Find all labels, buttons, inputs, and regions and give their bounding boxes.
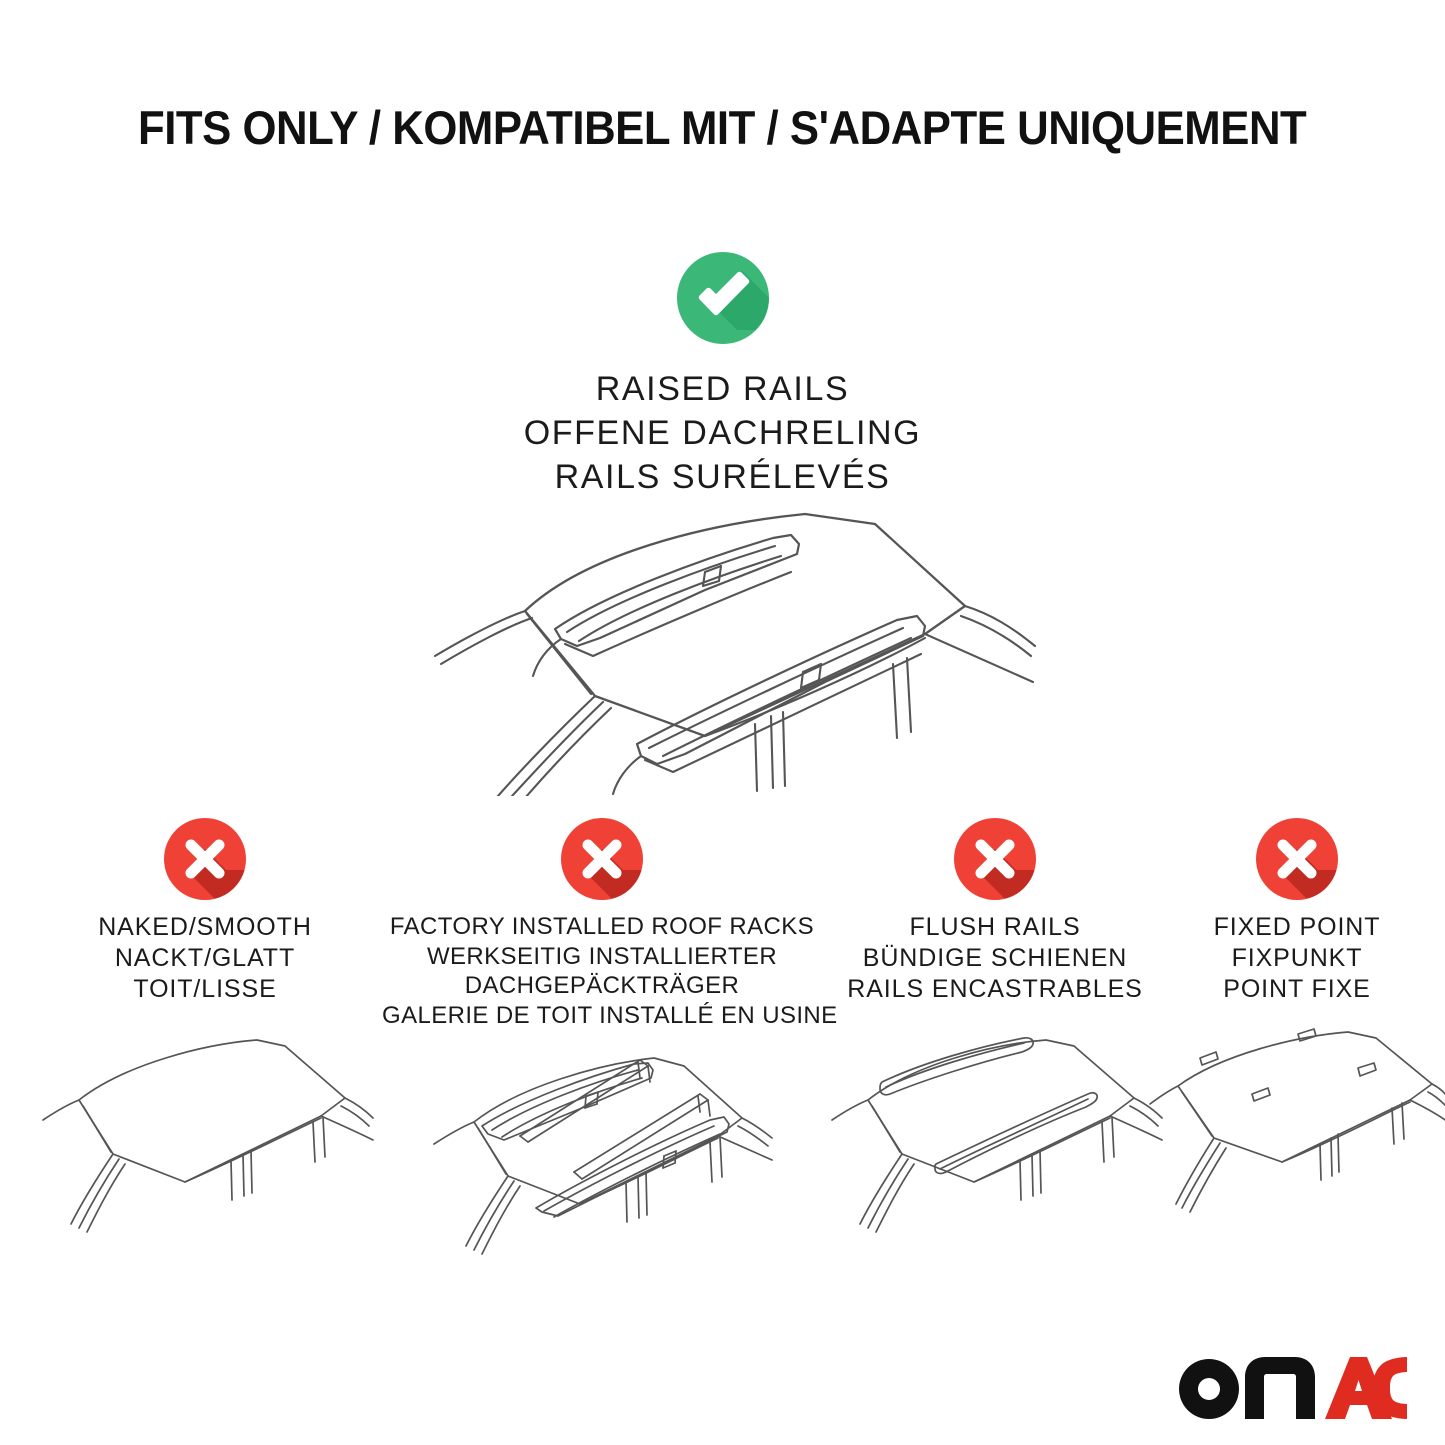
label-fr: RAILS ENCASTRABLES bbox=[820, 974, 1170, 1005]
compatible-label-en: RAISED RAILS bbox=[0, 367, 1445, 411]
x-circle-icon bbox=[164, 818, 246, 900]
x-circle-icon bbox=[1256, 818, 1338, 900]
page-header: FITS ONLY / KOMPATIBEL MIT / S'ADAPTE UN… bbox=[0, 100, 1445, 155]
page-title: FITS ONLY / KOMPATIBEL MIT / S'ADAPTE UN… bbox=[138, 100, 1306, 155]
check-circle-icon bbox=[677, 252, 769, 344]
x-circle-icon bbox=[954, 818, 1036, 900]
compatible-label-de: OFFENE DACHRELING bbox=[0, 411, 1445, 455]
car-roof-naked-smooth-illustration bbox=[22, 1020, 388, 1250]
incompatible-labels-naked-smooth: NAKED/SMOOTH NACKT/GLATT TOIT/LISSE bbox=[22, 912, 388, 1004]
incompatible-section: NAKED/SMOOTH NACKT/GLATT TOIT/LISSE bbox=[0, 818, 1445, 1288]
label-de-2: DACHGEPÄCKTRÄGER bbox=[382, 971, 822, 1001]
incompatible-labels-fixed-point: FIXED POINT FIXPUNKT POINT FIXE bbox=[1168, 912, 1426, 1004]
car-roof-fixed-point-illustration bbox=[1148, 1020, 1426, 1250]
incompatible-item-factory-racks: FACTORY INSTALLED ROOF RACKS WERKSEITIG … bbox=[382, 818, 822, 1268]
label-en: FLUSH RAILS bbox=[820, 912, 1170, 943]
car-roof-factory-racks-illustration bbox=[382, 1038, 822, 1268]
label-en: FIXED POINT bbox=[1168, 912, 1426, 943]
incompatible-item-flush-rails: FLUSH RAILS BÜNDIGE SCHIENEN RAILS ENCAS… bbox=[820, 818, 1170, 1250]
label-de: NACKT/GLATT bbox=[22, 943, 388, 974]
label-fr: POINT FIXE bbox=[1168, 974, 1426, 1005]
label-fr: GALERIE DE TOIT INSTALLÉ EN USINE bbox=[382, 1001, 822, 1031]
label-en: FACTORY INSTALLED ROOF RACKS bbox=[382, 912, 822, 942]
x-circle-icon bbox=[561, 818, 643, 900]
car-roof-raised-rails-illustration bbox=[405, 486, 1045, 796]
label-de: BÜNDIGE SCHIENEN bbox=[820, 943, 1170, 974]
compatible-section: RAISED RAILS OFFENE DACHRELING RAILS SUR… bbox=[0, 252, 1445, 500]
label-fr: TOIT/LISSE bbox=[22, 974, 388, 1005]
incompatible-item-fixed-point: FIXED POINT FIXPUNKT POINT FIXE bbox=[1168, 818, 1426, 1250]
car-roof-flush-rails-illustration bbox=[820, 1020, 1170, 1250]
label-de-1: WERKSEITIG INSTALLIERTER bbox=[382, 942, 822, 972]
incompatible-labels-flush-rails: FLUSH RAILS BÜNDIGE SCHIENEN RAILS ENCAS… bbox=[820, 912, 1170, 1004]
label-en: NAKED/SMOOTH bbox=[22, 912, 388, 943]
incompatible-labels-factory-racks: FACTORY INSTALLED ROOF RACKS WERKSEITIG … bbox=[382, 912, 822, 1030]
label-de: FIXPUNKT bbox=[1168, 943, 1426, 974]
incompatible-item-naked-smooth: NAKED/SMOOTH NACKT/GLATT TOIT/LISSE bbox=[22, 818, 388, 1250]
omac-logo: OMAC bbox=[1175, 1355, 1407, 1423]
compatible-labels: RAISED RAILS OFFENE DACHRELING RAILS SUR… bbox=[0, 367, 1445, 500]
